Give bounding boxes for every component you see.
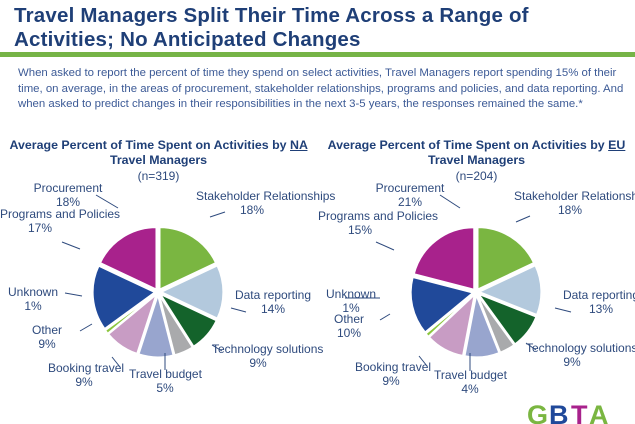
slice-label-technology-solutions-eu: Technology solutions 9% xyxy=(526,342,618,369)
slice-label-name: Data reporting xyxy=(235,288,311,302)
slice-label-other-eu: Other 10% xyxy=(318,313,380,340)
slice-label-stakeholder-relationships-eu: Stakeholder Relationships 18% xyxy=(514,190,626,217)
slice-label-name: Booking travel xyxy=(48,361,124,375)
slice-label-travel-budget-eu: Travel budget 4% xyxy=(434,369,506,396)
slice-label-pct: 1% xyxy=(0,300,66,314)
slice-label-name: Programs and Policies xyxy=(0,207,120,221)
slice-label-name: Travel budget xyxy=(434,368,507,382)
slice-label-pct: 18% xyxy=(196,204,308,218)
slice-label-unknown-eu: Unknown 1% xyxy=(318,288,384,315)
gbta-logo-svg: G B T A xyxy=(527,402,635,424)
chart-panel-na: Average Percent of Time Spent on Activit… xyxy=(0,138,317,424)
slice-label-pct: 14% xyxy=(234,303,312,317)
slice-label-name: Procurement xyxy=(376,181,445,195)
slice-label-pct: 15% xyxy=(318,224,402,238)
slice-label-pct: 5% xyxy=(129,382,201,396)
gbta-letter-a: A xyxy=(589,402,609,424)
slice-label-name: Unknown xyxy=(8,285,58,299)
slice-label-pct: 9% xyxy=(355,375,427,389)
slice-label-name: Booking travel xyxy=(355,360,431,374)
gbta-letter-t: T xyxy=(571,402,588,424)
slice-label-procurement-na: Procurement 18% xyxy=(18,182,118,209)
slice-label-programs-and-policies-eu: Programs and Policies 15% xyxy=(318,210,402,237)
slice-label-technology-solutions-na: Technology solutions 9% xyxy=(212,343,304,370)
gbta-letter-g: G xyxy=(527,402,548,424)
slice-label-other-na: Other 9% xyxy=(14,324,80,351)
slice-label-data-reporting-eu: Data reporting 13% xyxy=(562,289,635,316)
slice-label-pct: 9% xyxy=(48,376,120,390)
slice-label-name: Other xyxy=(32,323,62,337)
slice-label-pct: 10% xyxy=(318,327,380,341)
slice-label-name: Stakeholder Relationships xyxy=(196,189,335,203)
chart-panel-eu: Average Percent of Time Spent on Activit… xyxy=(318,138,635,424)
slice-label-name: Unknown xyxy=(326,287,376,301)
pie-chart-na: Procurement 18% Stakeholder Relationship… xyxy=(0,138,317,424)
gbta-logo: G B T A xyxy=(527,402,635,424)
slice-label-name: Programs and Policies xyxy=(318,209,438,223)
slice-label-pct: 4% xyxy=(434,383,506,397)
slice-label-pct: 13% xyxy=(562,303,635,317)
slice-label-name: Technology solutions xyxy=(212,342,323,356)
slice-label-name: Travel budget xyxy=(129,367,202,381)
slice-label-travel-budget-na: Travel budget 5% xyxy=(129,368,201,395)
intro-paragraph: When asked to report the percent of time… xyxy=(18,66,624,113)
slice-label-programs-and-policies-na: Programs and Policies 17% xyxy=(0,208,80,235)
slice-label-pct: 21% xyxy=(360,196,460,210)
slice-label-stakeholder-relationships-na: Stakeholder Relationships 18% xyxy=(196,190,308,217)
slice-label-booking-travel-na: Booking travel 9% xyxy=(48,362,120,389)
slice-label-pct: 9% xyxy=(526,356,618,370)
slice-label-name: Stakeholder Relationships xyxy=(514,189,635,203)
slice-label-name: Procurement xyxy=(34,181,103,195)
slice-label-name: Technology solutions xyxy=(526,341,635,355)
slice-label-pct: 1% xyxy=(318,302,384,316)
slice-label-pct: 17% xyxy=(0,222,80,236)
slice-label-booking-travel-eu: Booking travel 9% xyxy=(355,361,427,388)
pie-chart-eu: Procurement 21% Stakeholder Relationship… xyxy=(318,138,635,424)
slice-label-data-reporting-na: Data reporting 14% xyxy=(234,289,312,316)
gbta-letter-b: B xyxy=(549,402,569,424)
page-title: Travel Managers Split Their Time Across … xyxy=(14,4,614,52)
slice-label-unknown-na: Unknown 1% xyxy=(0,286,66,313)
slice-label-pct: 9% xyxy=(14,338,80,352)
slice-label-pct: 18% xyxy=(514,204,626,218)
slice-label-name: Data reporting xyxy=(563,288,635,302)
slice-label-pct: 9% xyxy=(212,357,304,371)
slice-label-procurement-eu: Procurement 21% xyxy=(360,182,460,209)
title-divider-rule xyxy=(0,52,635,57)
